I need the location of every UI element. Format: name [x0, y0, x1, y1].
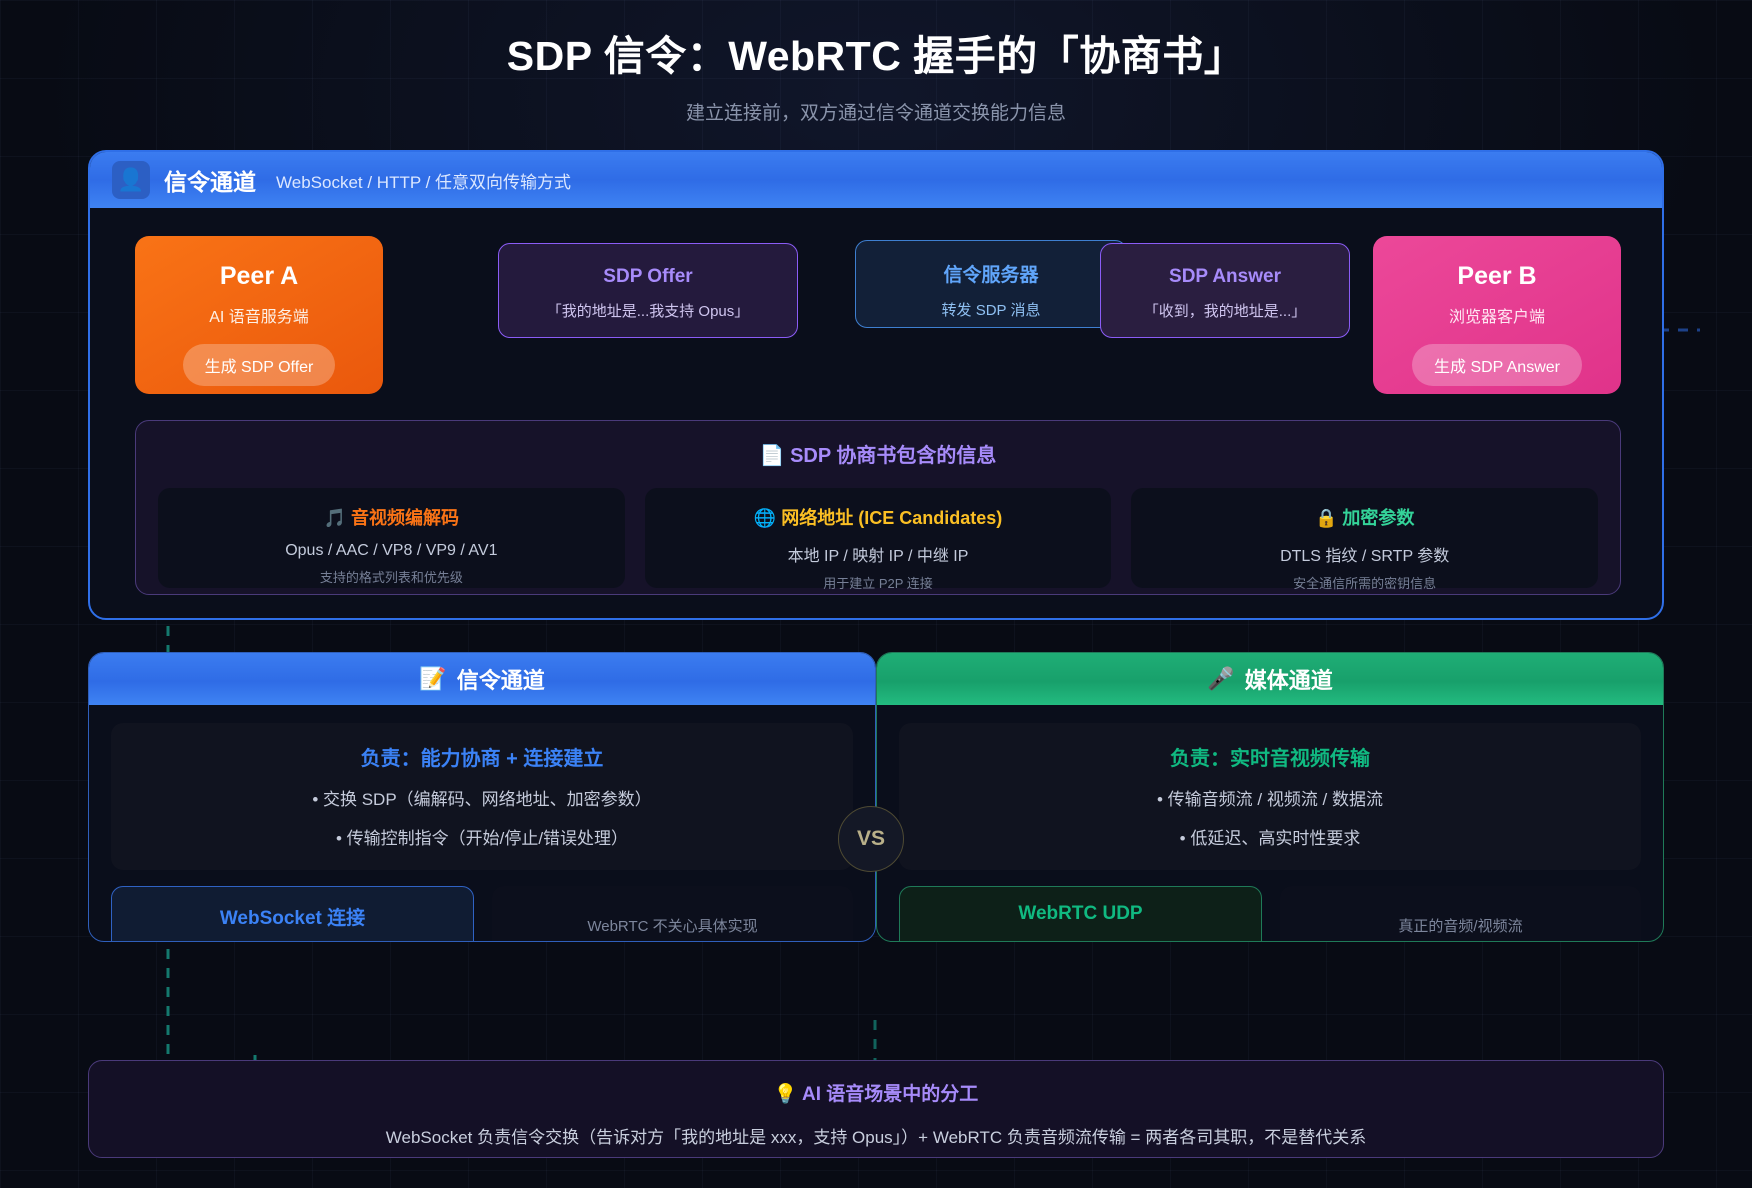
- webrtc-udp-card-title: WebRTC UDP: [908, 903, 1253, 925]
- music-note-icon: 🎵: [324, 508, 346, 528]
- signaling-panel-body: Peer A AI 语音服务端 生成 SDP Offer SDP Offer 「…: [90, 208, 1662, 620]
- lock-icon: 🔒: [1315, 508, 1337, 528]
- signaling-channel-panel: 👤 信令通道 WebSocket / HTTP / 任意双向传输方式 Peer …: [88, 150, 1664, 620]
- signaling-server-title: 信令服务器: [856, 260, 1126, 287]
- peer-b-card[interactable]: Peer B 浏览器客户端 生成 SDP Answer: [1373, 236, 1621, 394]
- footer-text: WebSocket 负责信令交换（告诉对方「我的地址是 xxx，支持 Opus」…: [89, 1123, 1663, 1148]
- sdp-answer-box: SDP Answer 「收到，我的地址是...」: [1100, 243, 1350, 338]
- microphone-icon: 🎤: [1207, 666, 1234, 692]
- peer-b-name: Peer B: [1457, 262, 1536, 291]
- transport-note-line1: WebRTC 不关心具体实现: [500, 915, 845, 936]
- footer-title: 💡 AI 语音场景中的分工: [89, 1079, 1663, 1106]
- vs-badge: VS: [838, 806, 904, 872]
- responsibility-bullet: • 交换 SDP（编解码、网络地址、加密参数）: [121, 785, 843, 810]
- memo-icon: 📝: [419, 666, 446, 692]
- media-note-line1: 真正的音频/视频流: [1288, 915, 1633, 936]
- lightbulb-icon: 💡: [774, 1084, 798, 1105]
- webrtc-udp-card-sub: 低延迟实时传输: [908, 938, 1253, 942]
- comparison-left-footer: WebSocket 连接 可靠的 TCP 传输 WebRTC 不关心具体实现 可…: [111, 886, 853, 942]
- comparison-left-responsibility: 负责：能力协商 + 连接建立 • 交换 SDP（编解码、网络地址、加密参数） •…: [111, 723, 853, 870]
- sdp-answer-text: 「收到，我的地址是...」: [1101, 300, 1349, 321]
- websocket-card-title: WebSocket 连接: [120, 903, 465, 930]
- sdp-info-card: 🔒 加密参数 DTLS 指纹 / SRTP 参数 安全通信所需的密钥信息: [1131, 488, 1598, 588]
- peer-b-action-button[interactable]: 生成 SDP Answer: [1412, 344, 1582, 386]
- comparison-left-header: 📝 信令通道: [89, 653, 875, 705]
- sdp-card-line1: 本地 IP / 映射 IP / 中继 IP: [655, 542, 1102, 566]
- page-title: SDP 信令：WebRTC 握手的「协商书」: [0, 22, 1752, 82]
- media-note-card: 真正的音频/视频流 P2P 直连或 TURN 中继 SRTP 加密传输: [1280, 886, 1641, 942]
- sdp-info-card: 🎵 音视频编解码 Opus / AAC / VP8 / VP9 / AV1 支持…: [158, 488, 625, 588]
- signaling-channel-comparison-panel: 📝 信令通道 负责：能力协商 + 连接建立 • 交换 SDP（编解码、网络地址、…: [88, 652, 876, 942]
- signaling-panel-title: 信令通道: [164, 163, 256, 197]
- footer-note: 💡 AI 语音场景中的分工 WebSocket 负责信令交换（告诉对方「我的地址…: [88, 1060, 1664, 1158]
- comparison-right-header: 🎤 媒体通道: [877, 653, 1663, 705]
- responsibility-bullet: • 传输音频流 / 视频流 / 数据流: [909, 785, 1631, 810]
- sdp-offer-text: 「我的地址是...我支持 Opus」: [499, 300, 797, 321]
- sdp-info-card-list: 🎵 音视频编解码 Opus / AAC / VP8 / VP9 / AV1 支持…: [136, 468, 1620, 588]
- responsibility-title: 负责：能力协商 + 连接建立: [121, 742, 843, 771]
- comparison-right-footer: WebRTC UDP 低延迟实时传输 真正的音频/视频流 P2P 直连或 TUR…: [899, 886, 1641, 942]
- responsibility-bullet: • 传输控制指令（开始/停止/错误处理）: [121, 824, 843, 849]
- sdp-answer-title: SDP Answer: [1101, 266, 1349, 288]
- page-subtitle: 建立连接前，双方通过信令通道交换能力信息: [0, 98, 1752, 125]
- peer-a-action-button[interactable]: 生成 SDP Offer: [183, 344, 336, 386]
- websocket-card: WebSocket 连接 可靠的 TCP 传输: [111, 886, 474, 942]
- transport-note-card: WebRTC 不关心具体实现 可以是 WebSocket / HTTP 或任意双…: [492, 886, 853, 942]
- globe-icon: 🌐: [754, 508, 776, 528]
- sdp-card-title: 🌐 网络地址 (ICE Candidates): [655, 504, 1102, 530]
- signaling-server-text: 转发 SDP 消息: [856, 299, 1126, 320]
- person-badge-icon: 👤: [112, 161, 150, 199]
- peer-b-role: 浏览器客户端: [1449, 303, 1545, 327]
- sdp-info-panel: 📄 SDP 协商书包含的信息 🎵 音视频编解码 Opus / AAC / VP8…: [135, 420, 1621, 595]
- responsibility-bullet: • 低延迟、高实时性要求: [909, 824, 1631, 849]
- sdp-offer-box: SDP Offer 「我的地址是...我支持 Opus」: [498, 243, 798, 338]
- document-icon: 📄: [760, 445, 785, 467]
- infographic-root: SDP 信令：WebRTC 握手的「协商书」 建立连接前，双方通过信令通道交换能…: [0, 0, 1752, 1188]
- media-channel-comparison-panel: 🎤 媒体通道 负责：实时音视频传输 • 传输音频流 / 视频流 / 数据流 • …: [876, 652, 1664, 942]
- signaling-panel-header: 👤 信令通道 WebSocket / HTTP / 任意双向传输方式: [90, 152, 1662, 208]
- peer-a-name: Peer A: [220, 262, 298, 291]
- signaling-server-box: 信令服务器 转发 SDP 消息: [855, 240, 1127, 328]
- sdp-offer-title: SDP Offer: [499, 266, 797, 288]
- sdp-info-title: 📄 SDP 协商书包含的信息: [136, 439, 1620, 468]
- comparison-right-responsibility: 负责：实时音视频传输 • 传输音频流 / 视频流 / 数据流 • 低延迟、高实时…: [899, 723, 1641, 870]
- sdp-card-line2: 安全通信所需的密钥信息: [1141, 573, 1588, 592]
- sdp-info-card: 🌐 网络地址 (ICE Candidates) 本地 IP / 映射 IP / …: [645, 488, 1112, 588]
- sdp-card-title: 🔒 加密参数: [1141, 504, 1588, 530]
- webrtc-udp-card: WebRTC UDP 低延迟实时传输: [899, 886, 1262, 942]
- peer-a-role: AI 语音服务端: [209, 303, 309, 327]
- signaling-panel-subtitle: WebSocket / HTTP / 任意双向传输方式: [276, 168, 571, 193]
- sdp-card-line2: 支持的格式列表和优先级: [168, 567, 615, 586]
- peer-a-card[interactable]: Peer A AI 语音服务端 生成 SDP Offer: [135, 236, 383, 394]
- sdp-card-title: 🎵 音视频编解码: [168, 504, 615, 530]
- responsibility-title: 负责：实时音视频传输: [909, 742, 1631, 771]
- page-header: SDP 信令：WebRTC 握手的「协商书」 建立连接前，双方通过信令通道交换能…: [0, 0, 1752, 125]
- sdp-card-line2: 用于建立 P2P 连接: [655, 573, 1102, 592]
- sdp-card-line1: DTLS 指纹 / SRTP 参数: [1141, 542, 1588, 566]
- sdp-card-line1: Opus / AAC / VP8 / VP9 / AV1: [168, 542, 615, 560]
